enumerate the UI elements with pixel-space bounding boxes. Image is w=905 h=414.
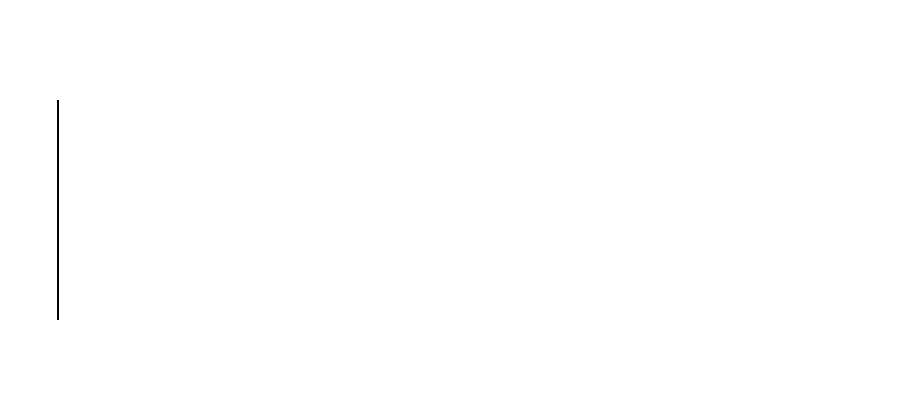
- x-axis-labels: [57, 324, 848, 364]
- chart-container: [0, 0, 905, 414]
- y-axis-ticks: [0, 100, 50, 319]
- bar-series-container: [57, 100, 848, 319]
